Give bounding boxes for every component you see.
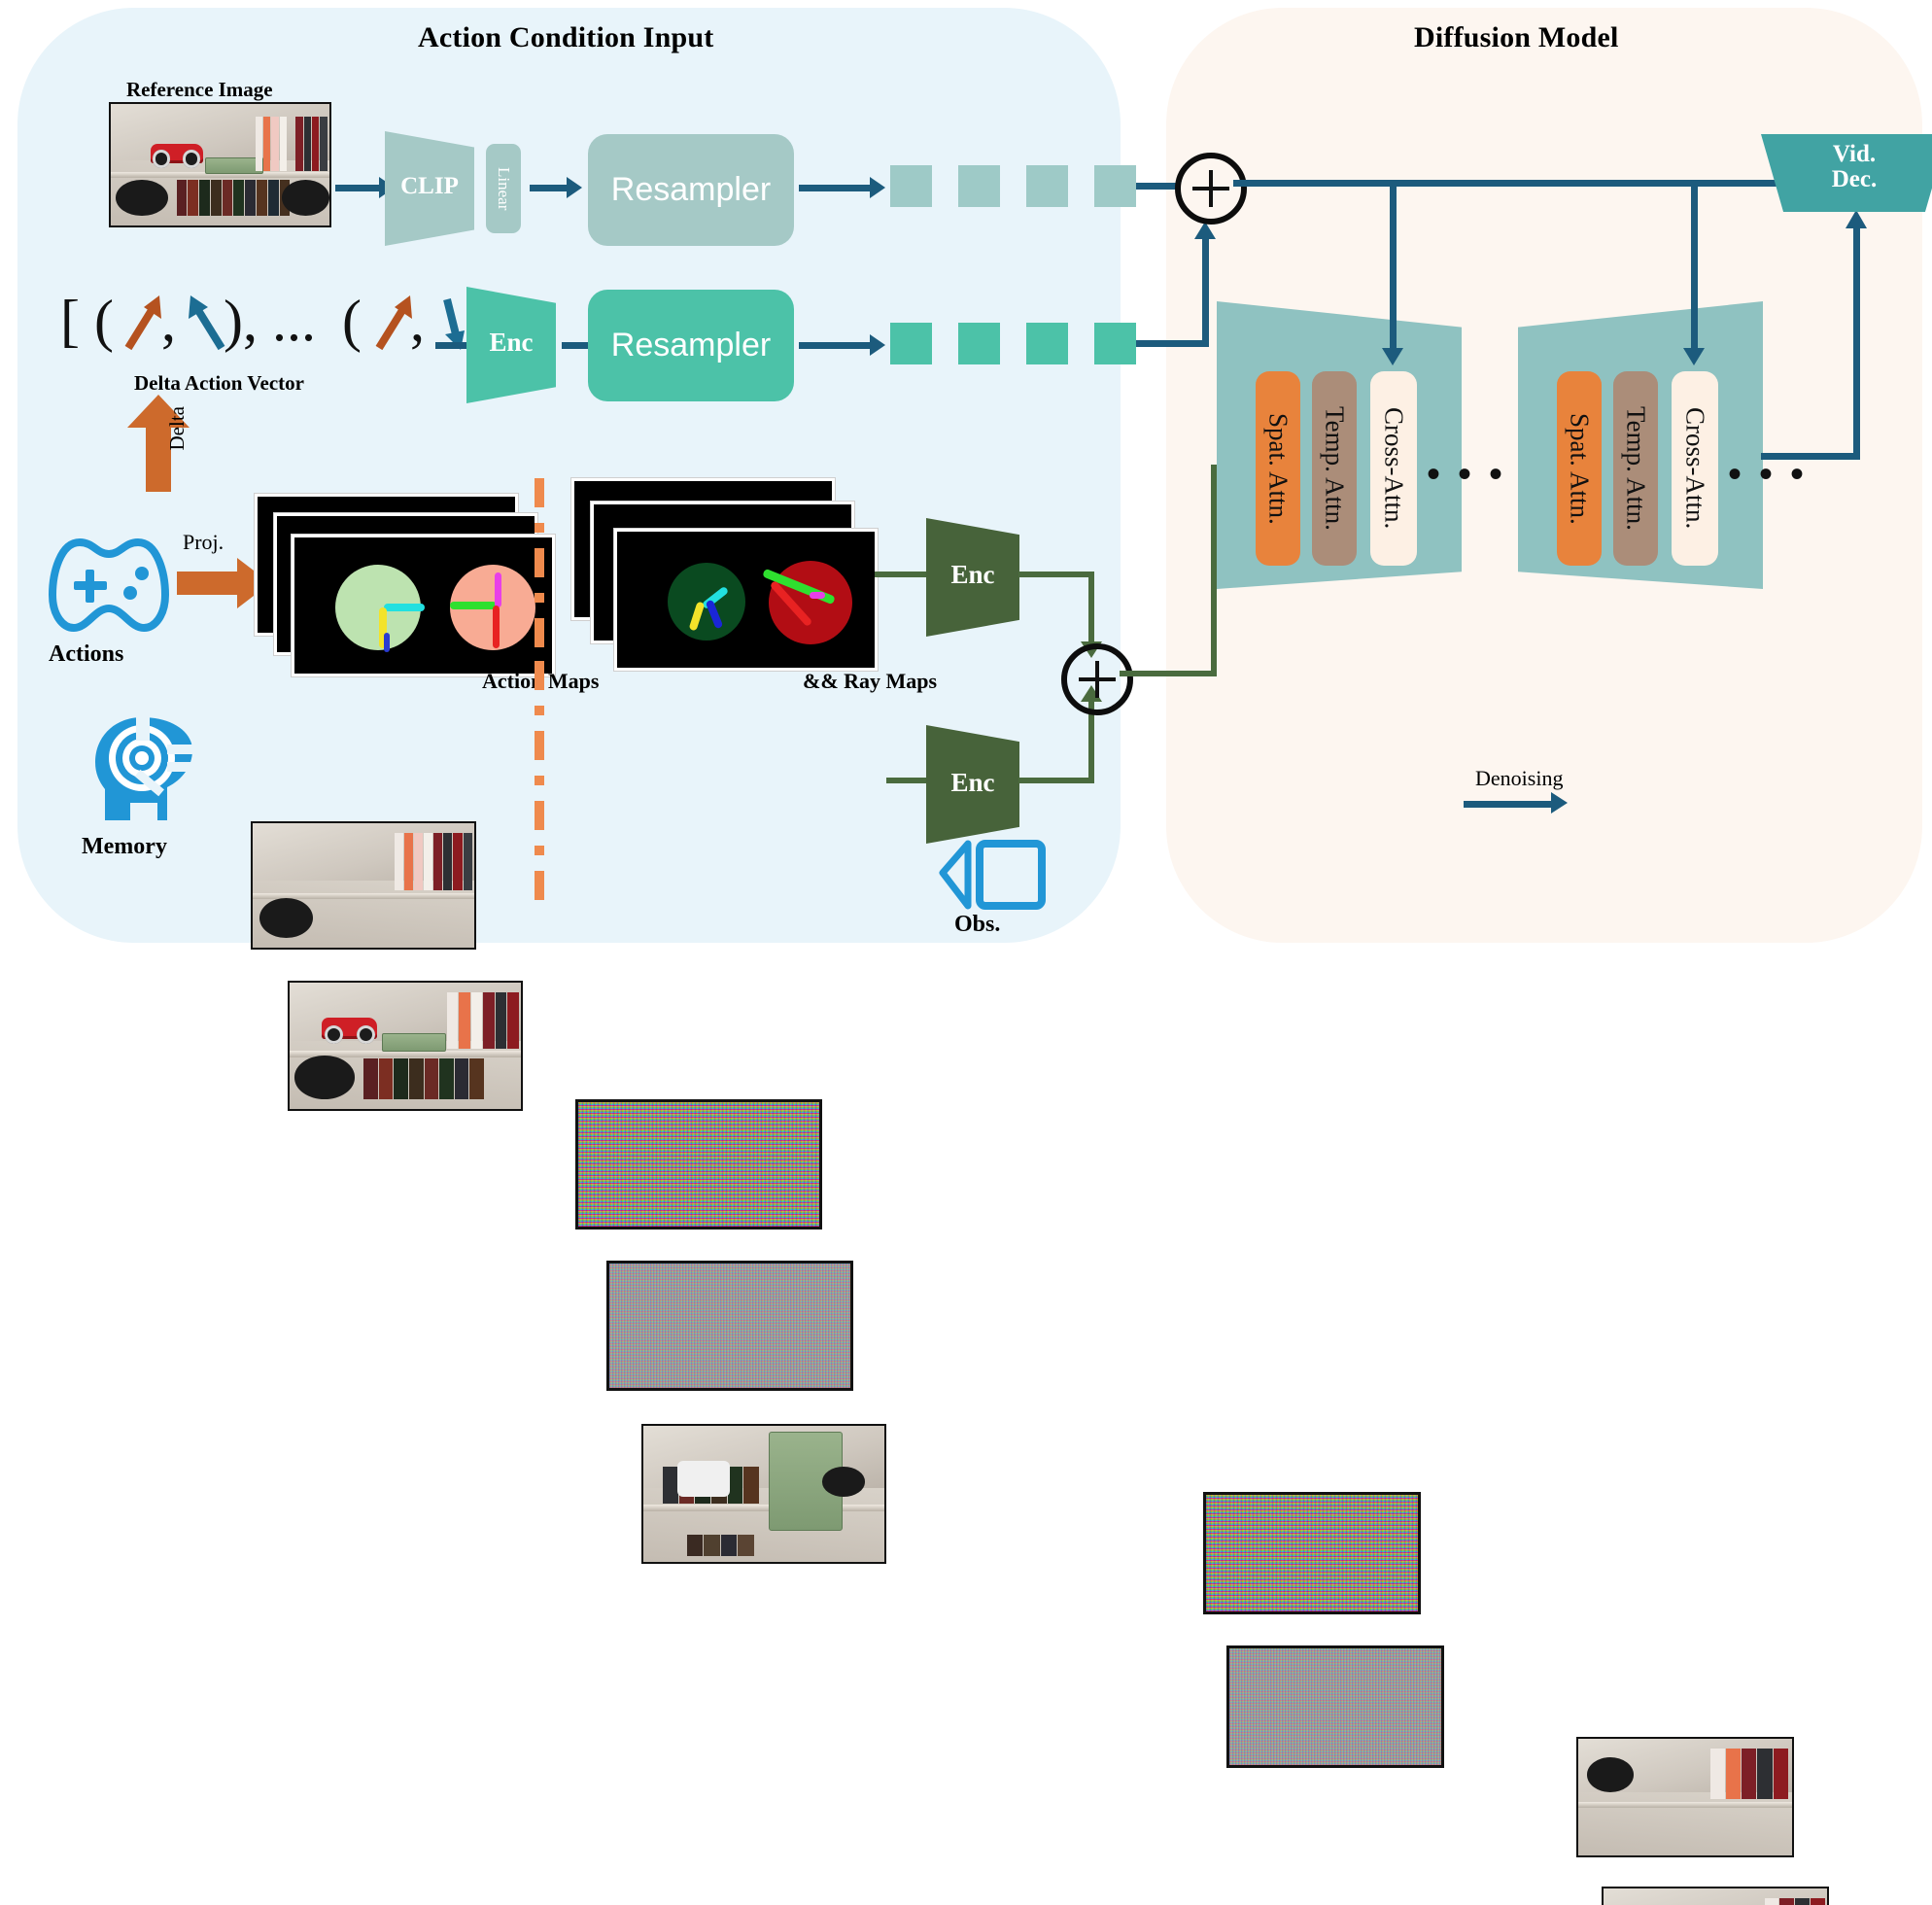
diffusion-panel-title: Diffusion Model xyxy=(1414,21,1619,54)
token-top-1 xyxy=(890,165,932,207)
action-stick-cyan xyxy=(384,604,425,611)
unet-right-spat-attn-label: Spat. Attn. xyxy=(1565,413,1595,525)
arrow-reference-to-clip xyxy=(335,185,380,191)
denoise-input-frame-front xyxy=(1226,1645,1444,1768)
token-bottom-3 xyxy=(1026,323,1068,364)
unet-to-viddec-head xyxy=(1846,210,1867,228)
resampler-top-block: Resampler xyxy=(588,134,794,246)
denoise-input-frame-back xyxy=(1203,1492,1421,1614)
token-bottom-2 xyxy=(958,323,1000,364)
clip-label: CLIP xyxy=(385,173,474,200)
action-stick-magenta xyxy=(495,572,501,607)
obs-noise-frame-back xyxy=(575,1099,822,1230)
unet-left-cross-attn: Cross-Attn. xyxy=(1370,371,1417,566)
unet-right-cross-attn: Cross-Attn. xyxy=(1672,371,1718,566)
unet-right-spat-attn: Spat. Attn. xyxy=(1557,371,1602,566)
cond-drop-right-head xyxy=(1683,348,1705,365)
delta-arrow-up-right-orange-1 xyxy=(121,294,165,354)
denoise-output-frame-back xyxy=(1576,1737,1794,1857)
denoising-label: Denoising xyxy=(1475,766,1563,791)
arrow-resampler-bottom-head xyxy=(870,334,885,356)
unet-right-ellipsis: • • • xyxy=(1728,455,1808,494)
cond-drop-right-vertical xyxy=(1691,180,1698,351)
token-top-3 xyxy=(1026,165,1068,207)
arrow-linear-to-resampler xyxy=(530,185,569,191)
proj-label: Proj. xyxy=(183,530,224,555)
token-top-2 xyxy=(958,165,1000,207)
sum-operator-bottom xyxy=(1061,643,1133,715)
unet-right-temp-attn-label: Temp. Attn. xyxy=(1621,406,1651,531)
obs-label: Obs. xyxy=(954,912,1000,938)
unet-to-viddec-vertical xyxy=(1853,228,1860,460)
arrow-resampler-top-head xyxy=(870,177,885,198)
resampler-top-label: Resampler xyxy=(611,171,771,209)
enc-maps-label: Enc xyxy=(926,560,1019,590)
action-stick-green xyxy=(450,602,497,609)
unet-left-ellipsis: • • • xyxy=(1427,455,1506,494)
gamepad-icon xyxy=(47,533,171,636)
enc-maps-to-sum-horizontal xyxy=(1018,571,1094,577)
action-stick-red xyxy=(493,606,500,648)
vid-dec-label-line1: Vid. xyxy=(1761,142,1932,167)
arrow-resampler-bottom-to-tokens xyxy=(799,342,872,349)
resampler-bottom-block: Resampler xyxy=(588,290,794,401)
vid-dec-block: Vid. Dec. xyxy=(1761,134,1932,212)
memory-photo-back xyxy=(251,821,476,950)
arrow-linear-to-resampler-head xyxy=(567,177,582,198)
ray-map-frame-front xyxy=(614,529,878,671)
unet-left-cross-attn-label: Cross-Attn. xyxy=(1379,407,1409,529)
action-stick-blue xyxy=(384,633,390,652)
ray-disc-red xyxy=(769,561,852,644)
obs-noise-frame-mid xyxy=(606,1261,853,1391)
denoise-output-frame-front xyxy=(1602,1887,1829,1905)
resampler-bottom-label: Resampler xyxy=(611,327,771,364)
delta-action-vector-label: Delta Action Vector xyxy=(134,371,304,396)
arrow-resampler-top-to-tokens xyxy=(799,185,872,191)
divider-dashdot-upper xyxy=(533,478,546,663)
unet-left-spat-attn-label: Spat. Attn. xyxy=(1263,413,1294,525)
unet-to-viddec-horizontal xyxy=(1761,453,1860,460)
divider-dashdot-lower xyxy=(533,661,546,900)
ray-stick-magenta xyxy=(810,592,825,599)
unet-left-temp-attn: Temp. Attn. xyxy=(1312,371,1357,566)
denoising-arrow-line xyxy=(1464,801,1555,808)
cond-drop-left-vertical xyxy=(1390,180,1397,351)
action-map-frame-front xyxy=(292,535,555,676)
unet-left-temp-attn-label: Temp. Attn. xyxy=(1320,406,1350,531)
unet-right-cross-attn-label: Cross-Attn. xyxy=(1680,407,1710,529)
enc-maps-to-sum-vertical xyxy=(1088,571,1094,647)
unet-left-spat-attn: Spat. Attn. xyxy=(1256,371,1300,566)
arrow-obs-to-enc xyxy=(886,778,931,783)
denoising-arrow-head xyxy=(1551,792,1568,814)
obs-photo-front xyxy=(641,1424,886,1564)
unet-right-temp-attn: Temp. Attn. xyxy=(1613,371,1658,566)
delta-action-vector-expression: [ ( , ), ... ( , )] xyxy=(60,292,439,367)
memory-label: Memory xyxy=(82,834,167,860)
enc-action-label: Enc xyxy=(466,328,556,358)
tokens-top-to-sum-line xyxy=(1136,183,1180,190)
token-top-4 xyxy=(1094,165,1136,207)
linear-label: Linear xyxy=(494,167,513,210)
ray-maps-label: && Ray Maps xyxy=(803,669,937,694)
sum-operator-top xyxy=(1175,153,1247,225)
obs-camera-icon xyxy=(935,838,1050,914)
memory-photo-front xyxy=(288,981,523,1111)
sum-bottom-to-unet-horizontal xyxy=(1120,671,1217,676)
sum-bottom-to-unet-vertical xyxy=(1211,465,1217,675)
tokens-bottom-path-vertical xyxy=(1202,238,1209,345)
tokens-bottom-path-horizontal xyxy=(1136,340,1209,347)
enc-obs-to-sum-horizontal xyxy=(1018,778,1094,783)
cond-drop-left-head xyxy=(1382,348,1403,365)
actions-label: Actions xyxy=(49,641,123,668)
linear-block: Linear xyxy=(486,144,521,233)
reference-image-label: Reference Image xyxy=(126,78,273,102)
vid-dec-label-line2: Dec. xyxy=(1761,167,1932,192)
memory-brain-icon xyxy=(86,711,202,828)
delta-arrow-label: Delta xyxy=(165,406,190,450)
token-bottom-1 xyxy=(890,323,932,364)
enc-obs-label: Enc xyxy=(926,768,1019,798)
token-bottom-4 xyxy=(1094,323,1136,364)
reference-image-photo xyxy=(109,102,331,227)
action-panel-title: Action Condition Input xyxy=(418,21,714,54)
